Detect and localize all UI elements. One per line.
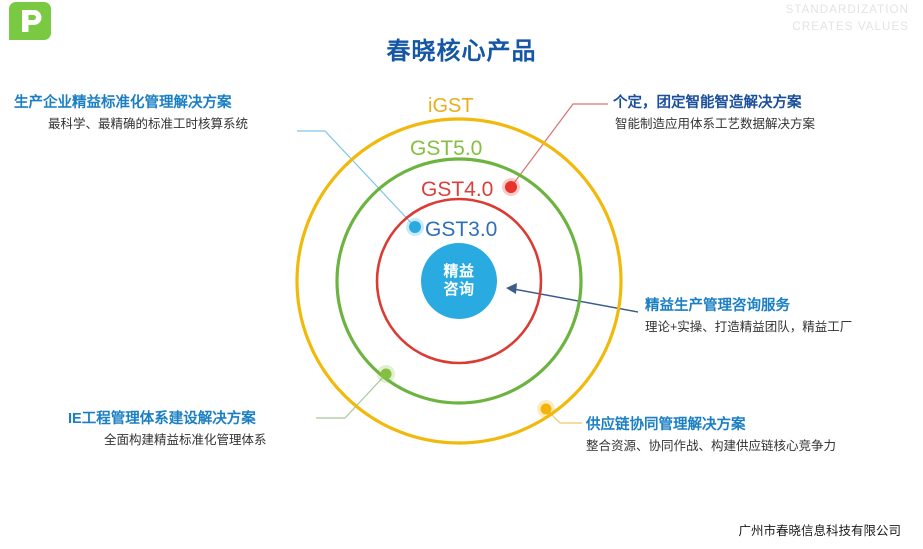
callout-top-right-sub: 智能制造应用体系工艺数据解决方案 [613, 115, 815, 134]
blue-node [409, 221, 421, 233]
callout-bottom-left-sub: 全面构建精益标准化管理体系 [68, 431, 267, 450]
connector-line-bottom-left [316, 374, 386, 418]
callout-bottom-right-heading: 供应链协同管理解决方案 [586, 416, 836, 435]
callout-bottom-left: IE工程管理体系建设解决方案 全面构建精益标准化管理体系 [68, 410, 267, 450]
ring-label-igst: iGST [428, 95, 474, 118]
red-node [505, 181, 517, 193]
callout-top-left: 生产企业精益标准化管理解决方案 最科学、最精确的标准工时核算系统 [14, 94, 248, 134]
callout-bottom-left-heading: IE工程管理体系建设解决方案 [68, 410, 267, 429]
connector-line-top-right [511, 104, 608, 187]
core-label-line-2: 咨询 [443, 281, 474, 299]
callout-bottom-right: 供应链协同管理解决方案 整合资源、协同作战、构建供应链核心竞争力 [586, 416, 836, 456]
concentric-ring-diagram: iGST GST5.0 GST4.0 GST3.0 精益 咨询 [0, 0, 923, 549]
core-label-line-1: 精益 [443, 263, 474, 281]
callout-top-right: 个定，团定智能智造解决方案 智能制造应用体系工艺数据解决方案 [613, 94, 815, 134]
ring-label-gst5: GST5.0 [410, 137, 482, 161]
callout-middle-right-heading: 精益生产管理咨询服务 [645, 297, 852, 316]
connector-line-top-left [297, 131, 415, 227]
yellow-node [541, 404, 552, 415]
callout-top-right-heading: 个定，团定智能智造解决方案 [613, 94, 815, 113]
slide-canvas: STANDARDIZATION CREATES VALUES 春晓核心产品 [0, 0, 923, 549]
callout-top-left-sub: 最科学、最精确的标准工时核算系统 [14, 115, 248, 134]
green-node [381, 369, 392, 380]
ring-label-gst4: GST4.0 [421, 178, 493, 202]
callout-middle-right-sub: 理论+实操、打造精益团队，精益工厂 [645, 318, 852, 337]
callout-middle-right: 精益生产管理咨询服务 理论+实操、打造精益团队，精益工厂 [645, 297, 852, 337]
ring-label-gst3: GST3.0 [425, 218, 497, 242]
callout-top-left-heading: 生产企业精益标准化管理解决方案 [14, 94, 248, 113]
footer-company-name: 广州市春晓信息科技有限公司 [738, 520, 901, 539]
core-circle: 精益 咨询 [421, 243, 497, 319]
callout-bottom-right-sub: 整合资源、协同作战、构建供应链核心竞争力 [586, 437, 836, 456]
arrow-head-icon [506, 283, 517, 294]
